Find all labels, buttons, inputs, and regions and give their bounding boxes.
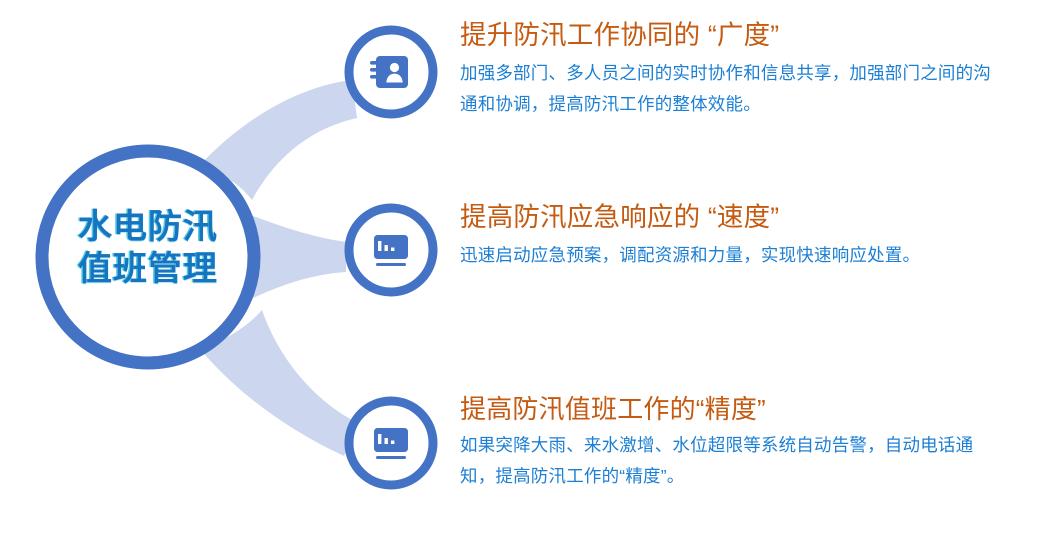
item-circle-2[interactable] (349, 208, 433, 292)
hub-title-line-1: 水电防汛 (36, 206, 260, 248)
item-title-3: 提高防汛值班工作的“精度” (460, 392, 1036, 426)
item-title-1: 提升防汛工作协同的 “广度” (460, 18, 1036, 52)
connector-to-item-2 (248, 214, 346, 300)
item-text-block-2: 提高防汛应急响应的 “速度” 迅速启动应急预案，调配资源和力量，实现快速响应处置… (460, 200, 1036, 271)
item-body-3: 如果突降大雨、来水激增、水位超限等系统自动告警，自动电话通知，提高防汛工作的“精… (460, 430, 1008, 492)
item-body-1: 加强多部门、多人员之间的实时协作和信息共享，加强部门之间的沟通和协调，提高防汛工… (460, 58, 1002, 120)
item-circle-3[interactable] (349, 401, 433, 485)
item-text-block-1: 提升防汛工作协同的 “广度” 加强多部门、多人员之间的实时协作和信息共享，加强部… (460, 18, 1036, 120)
item-text-block-3: 提高防汛值班工作的“精度” 如果突降大雨、来水激增、水位超限等系统自动告警，自动… (460, 392, 1036, 492)
item-body-2: 迅速启动应急预案，调配资源和力量，实现快速响应处置。 (460, 240, 1030, 271)
hub-title-line-2: 值班管理 (36, 248, 260, 290)
hub-title: 水电防汛 值班管理 (36, 206, 260, 290)
item-circle-1[interactable] (349, 30, 433, 114)
infographic-canvas: 水电防汛 值班管理 提升防汛工作协同的 “广度” 加强多部门、多人员之间的实时协… (0, 0, 1056, 534)
address-book-icon (370, 56, 408, 88)
item-title-2: 提高防汛应急响应的 “速度” (460, 200, 1036, 234)
